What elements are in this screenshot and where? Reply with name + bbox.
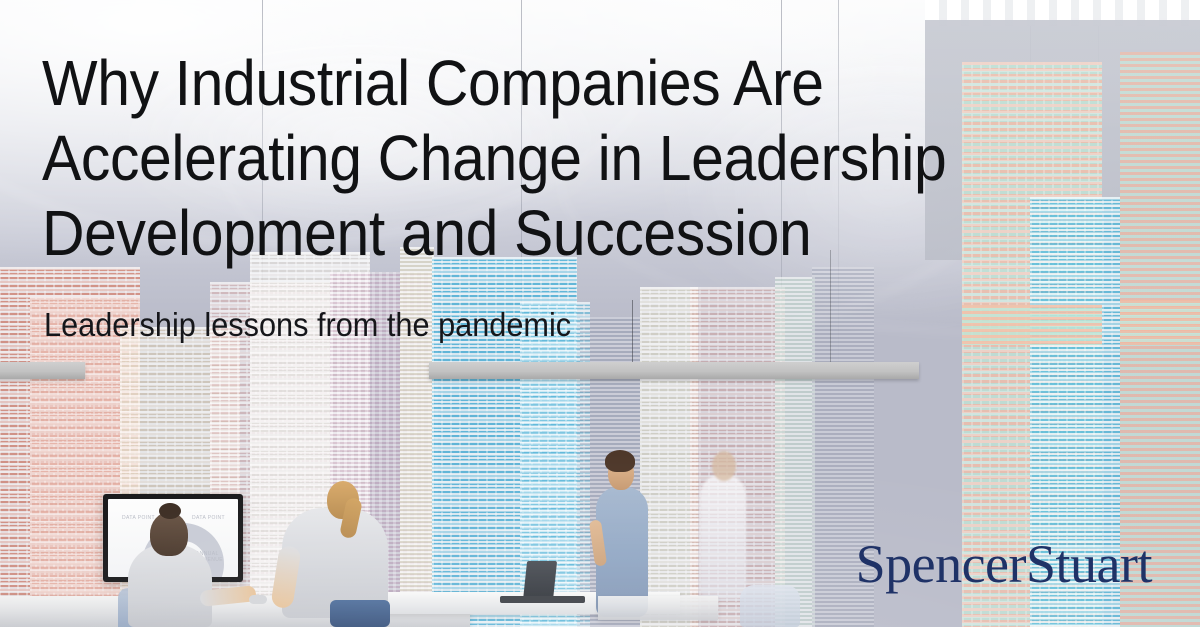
desk bbox=[598, 596, 718, 620]
person-distant-body bbox=[700, 475, 746, 600]
hero-banner: DATA POINT DATA POINT ANNUAL REVENUE bbox=[0, 0, 1200, 627]
chart-label: DATA POINT bbox=[122, 515, 155, 521]
person-distant-head bbox=[712, 451, 736, 481]
headline-line-3: Development and Succession bbox=[42, 196, 1072, 271]
person-seated bbox=[128, 545, 212, 627]
banner-text-block: Why Industrial Companies Are Acceleratin… bbox=[42, 46, 1162, 345]
ceiling-light-bar bbox=[0, 362, 85, 379]
mouse bbox=[249, 595, 267, 604]
chart-label: DATA POINT bbox=[192, 515, 225, 521]
person-walking-hair bbox=[605, 450, 635, 472]
person-standing-jeans bbox=[330, 600, 390, 627]
person-seated-hairbun bbox=[159, 503, 181, 519]
headline-line-1: Why Industrial Companies Are bbox=[42, 46, 1072, 121]
laptop-base bbox=[500, 596, 585, 603]
ceiling-light-bar bbox=[429, 362, 919, 379]
subtitle: Leadership lessons from the pandemic bbox=[44, 305, 1084, 345]
headline-line-2: Accelerating Change in Leadership bbox=[42, 121, 1072, 196]
spencer-stuart-logo: SpencerStuart bbox=[856, 537, 1152, 591]
chair bbox=[740, 585, 800, 627]
laptop bbox=[523, 561, 557, 601]
